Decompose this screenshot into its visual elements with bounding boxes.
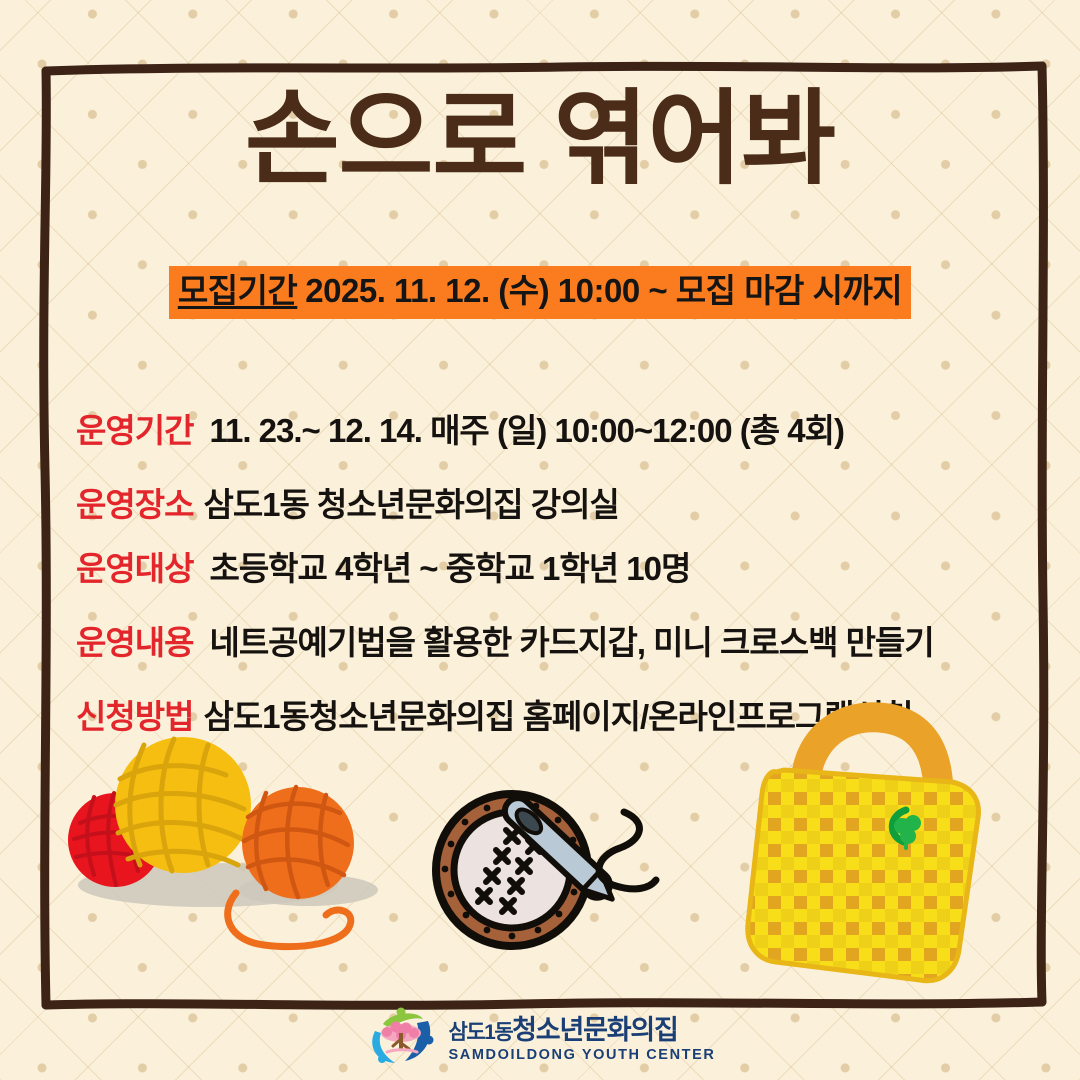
logo-name-korean-main: 청소년문화의집 <box>512 1015 677 1045</box>
info-value-content: 네트공예기법을 활용한 카드지갑, 미니 크로스백 만들기 <box>209 616 933 664</box>
organization-logo: 삼도1동청소년문화의집 SAMDOILDONG YOUTH CENTER <box>0 1007 1080 1072</box>
poster-title: 손으로 엮어봐 <box>0 82 1080 195</box>
info-value-target: 초등학교 4학년 ~ 중학교 1학년 10명 <box>209 542 690 590</box>
info-value-place: 삼도1동 청소년문화의집 강의실 <box>203 478 618 526</box>
info-row-period: 운영기간 11. 23.~ 12. 14. 매주 (일) 10:00~12:00… <box>76 404 1016 452</box>
logo-name-english: SAMDOILDONG YOUTH CENTER <box>449 1048 716 1063</box>
info-row-target: 운영대상 초등학교 4학년 ~ 중학교 1학년 10명 <box>76 542 1016 590</box>
info-label-content: 운영내용 <box>76 616 193 664</box>
youth-center-emblem-icon <box>365 1007 437 1072</box>
info-label-period: 운영기간 <box>76 404 193 452</box>
logo-text-block: 삼도1동청소년문화의집 SAMDOILDONG YOUTH CENTER <box>449 1017 716 1063</box>
recruitment-band-container: 모집기간2025. 11. 12. (수) 10:00 ~ 모집 마감 시까지 <box>0 266 1080 319</box>
info-row-place: 운영장소 삼도1동 청소년문화의집 강의실 <box>76 478 1016 526</box>
info-label-target: 운영대상 <box>76 542 193 590</box>
woven-tote-bag-illustration <box>742 714 998 990</box>
logo-name-korean-prefix: 삼도1동 <box>449 1021 513 1044</box>
info-value-period: 11. 23.~ 12. 14. 매주 (일) 10:00~12:00 (총 4… <box>209 404 843 452</box>
yarn-balls-illustration <box>58 735 388 965</box>
info-list: 운영기간 11. 23.~ 12. 14. 매주 (일) 10:00~12:00… <box>76 404 1016 738</box>
embroidery-hoop-illustration <box>424 778 704 958</box>
recruitment-highlight-band: 모집기간2025. 11. 12. (수) 10:00 ~ 모집 마감 시까지 <box>169 266 911 319</box>
logo-name-korean: 삼도1동청소년문화의집 <box>449 1017 716 1044</box>
info-label-place: 운영장소 <box>76 478 193 526</box>
recruitment-label: 모집기간 <box>178 272 297 309</box>
recruitment-value: 2025. 11. 12. (수) 10:00 ~ 모집 마감 시까지 <box>305 272 902 309</box>
info-label-apply: 신청방법 <box>76 690 193 738</box>
info-row-content: 운영내용 네트공예기법을 활용한 카드지갑, 미니 크로스백 만들기 <box>76 616 1016 664</box>
poster-canvas: 손으로 엮어봐 모집기간2025. 11. 12. (수) 10:00 ~ 모집… <box>0 0 1080 1080</box>
